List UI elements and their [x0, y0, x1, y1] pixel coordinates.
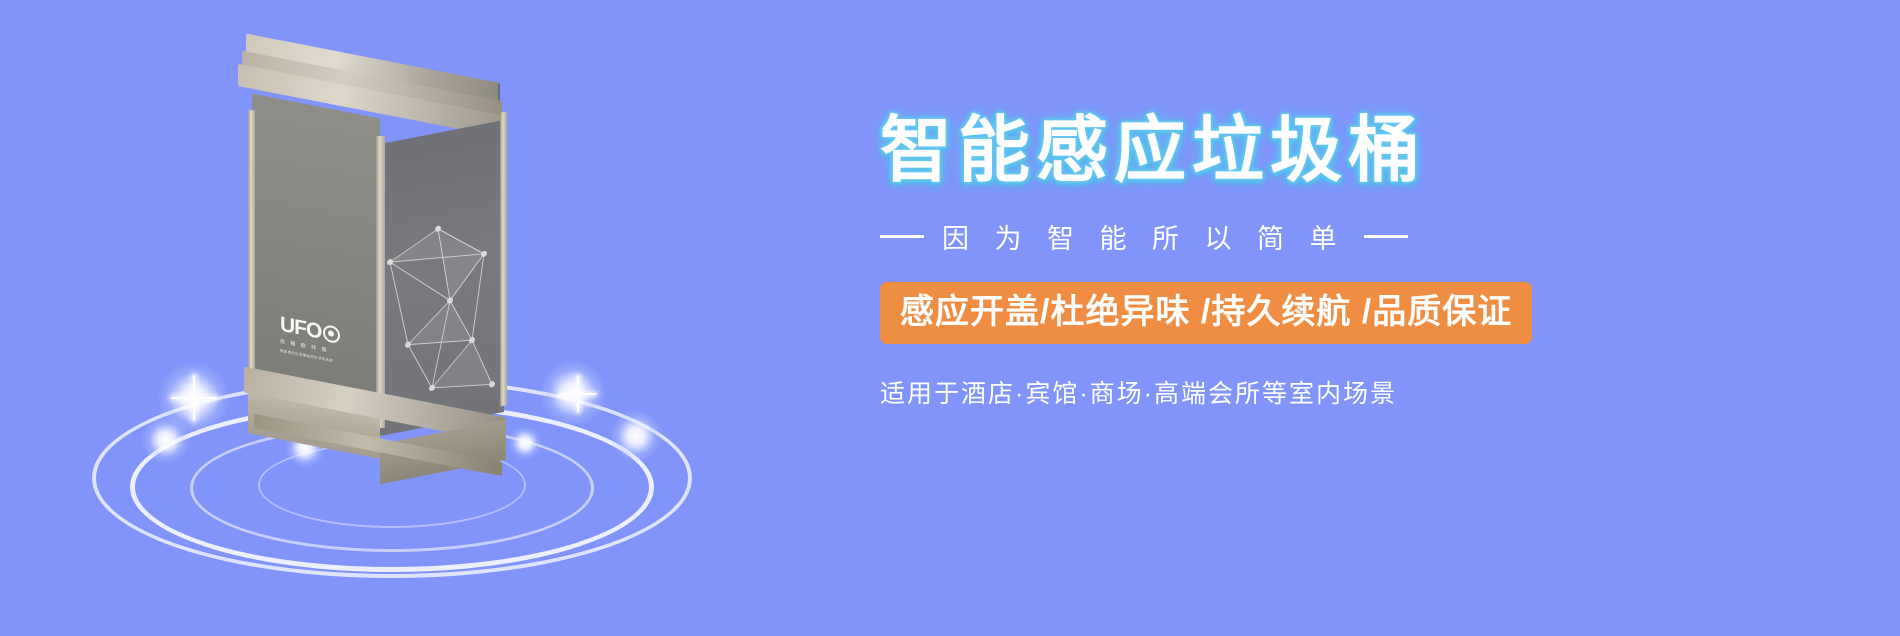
tagline-rule-left	[880, 235, 924, 238]
smart-trash-bin: UFO 优 福 欧 环 保 智能感应垃圾桶品质生活的选择	[230, 40, 540, 460]
banner-headline: 智能感应垃圾桶	[880, 115, 1580, 187]
banner-tagline: 因 为 智 能 所 以 简 单	[880, 217, 1580, 256]
tagline-rule-right	[1364, 235, 1408, 238]
product-banner: UFO 优 福 欧 环 保 智能感应垃圾桶品质生活的选择 智能感应垃圾桶 因 为…	[0, 0, 1900, 636]
tagline-text: 因 为 智 能 所 以 简 单	[942, 217, 1346, 256]
plexus-network-graphic	[380, 120, 504, 436]
usage-scenarios-text: 适用于酒店·宾馆·商场·高端会所等室内场景	[880, 374, 1580, 410]
marketing-copy: 智能感应垃圾桶 因 为 智 能 所 以 简 单 感应开盖/杜绝异味 /持久续航 …	[880, 115, 1580, 410]
bin-face-right	[380, 120, 504, 436]
brand-logo-ring-icon	[323, 324, 340, 344]
bin-edge-left	[248, 109, 255, 410]
feature-badge: 感应开盖/杜绝异味 /持久续航 /品质保证	[880, 282, 1532, 344]
product-image: UFO 优 福 欧 环 保 智能感应垃圾桶品质生活的选择	[70, 20, 770, 580]
bin-edge-right	[500, 111, 507, 406]
bin-edge-center	[376, 136, 385, 428]
bin-face-left	[252, 94, 380, 419]
